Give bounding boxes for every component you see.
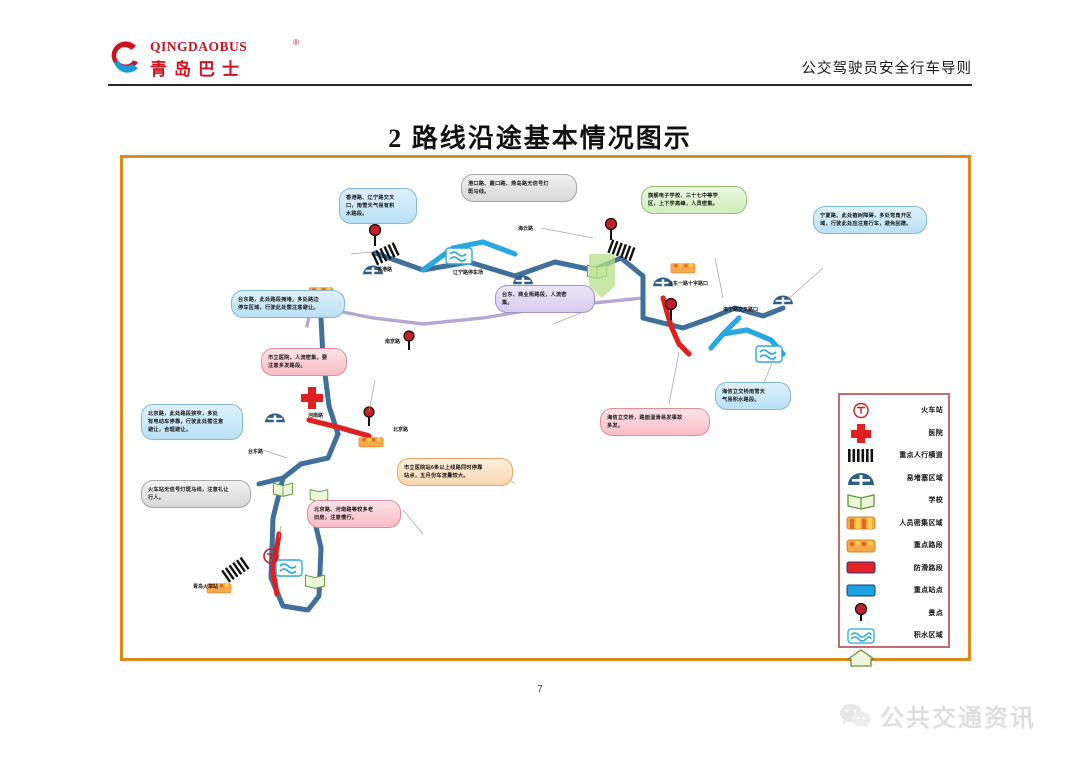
legend-item-crowd: 人员密集区域 bbox=[840, 512, 948, 535]
waterlogging-icon bbox=[840, 625, 882, 646]
legend-item-antislip: 防滑路段 bbox=[840, 557, 948, 580]
legend-label: 火车站 bbox=[882, 405, 948, 415]
legend-label: 重点路段 bbox=[882, 540, 948, 550]
callout-city-hospital-stop: 市立医院站6条以上线路同时停靠 站点，五月份车流量较大。 bbox=[397, 458, 513, 486]
callout-overpass-weather: 海信立交桥雨雪天 气易积水路段。 bbox=[715, 382, 791, 410]
callout-train-station: 火车站无信号灯斑马线，注意礼让 行人。 bbox=[141, 480, 251, 508]
node-label-nanjing-road: 南京路 bbox=[385, 338, 400, 345]
callout-taidong-area: 台东路，此处路段拥堵，多处路边 停车区域，行驶此处需注意避让。 bbox=[231, 290, 345, 318]
wechat-watermark: 公共交通资讯 bbox=[838, 698, 1036, 733]
train-station-icon bbox=[840, 400, 882, 421]
callout-city-hospital: 市立医院，人流密集，要 注意多发路段。 bbox=[261, 348, 347, 376]
brand-logo: QINGDAOBUS ® 青岛巴士 bbox=[108, 38, 338, 80]
callout-school-zone: 旗舰电子学校、三十七中等学 区，上下学高峰，人员密集。 bbox=[641, 186, 747, 214]
node-label-haiyun-road: 海云路 bbox=[518, 225, 533, 232]
legend-label: 景点 bbox=[882, 608, 948, 618]
legend-label: 重点站点 bbox=[882, 585, 948, 595]
crosswalk-icon bbox=[840, 445, 882, 466]
node-label-haining-junction: 海宁路交叉路口 bbox=[723, 306, 758, 313]
node-label-beijing-road: 北京路 bbox=[393, 426, 408, 433]
page-number: 7 bbox=[0, 684, 1080, 695]
legend-item-school: 学校 bbox=[840, 489, 948, 512]
congestion-icon bbox=[840, 467, 882, 488]
callout-hongkong-liaoning: 香港路、辽宁路交叉 口，雨雪天气易有积 水路段。 bbox=[339, 188, 417, 224]
legend-item-hospital: 医院 bbox=[840, 422, 948, 445]
crowd-icon bbox=[840, 512, 882, 533]
legend-label: 重点人行横道 bbox=[882, 450, 948, 460]
page-title: 2 路线沿途基本情况图示 bbox=[0, 118, 1080, 155]
legend-item-congestion: 易堵塞区域 bbox=[840, 467, 948, 490]
antislip-section-icon bbox=[840, 557, 882, 578]
brand-name-en: QINGDAOBUS bbox=[150, 39, 247, 55]
header-title: 公交驾驶员安全行车导则 bbox=[802, 57, 973, 78]
key-stop-icon bbox=[840, 580, 882, 601]
header-divider bbox=[108, 84, 972, 86]
wechat-icon bbox=[838, 702, 872, 730]
legend-item-waterlogging: 积水区域 bbox=[840, 624, 948, 647]
node-label-liaoning-parking: 辽宁路停车场 bbox=[453, 269, 483, 276]
house-icon bbox=[840, 647, 882, 668]
legend-item-house-area bbox=[840, 647, 948, 670]
node-label-henan-road: 河南路 bbox=[308, 412, 323, 419]
brand-name-cn: 青岛巴士 bbox=[150, 55, 246, 80]
node-label-qingdao-station: 青岛火车站 bbox=[193, 583, 218, 590]
callout-overpass-accident: 海信立交桥，路面湿滑易发事故 多发。 bbox=[600, 408, 710, 436]
legend-label: 积水区域 bbox=[882, 630, 948, 640]
legend-label: 学校 bbox=[882, 495, 948, 505]
legend-item-crosswalk: 重点人行横道 bbox=[840, 444, 948, 467]
node-label-taidong-road: 台东路 bbox=[248, 448, 263, 455]
qingdaobus-logo-icon bbox=[108, 40, 144, 76]
legend-label: 易堵塞区域 bbox=[882, 473, 948, 483]
callout-gangkou-road: 港口路、霞口路、燕岛路无信号灯 斑马线。 bbox=[461, 174, 577, 202]
route-diagram-frame: 香港路 辽宁路停车场 海云路 南京路 台东一路十字路口 海宁路交叉路口 河南路 … bbox=[120, 155, 971, 661]
page-header: QINGDAOBUS ® 青岛巴士 公交驾驶员安全行车导则 bbox=[0, 0, 1080, 92]
trademark-symbol: ® bbox=[293, 38, 299, 47]
legend-item-train-station: 火车站 bbox=[840, 399, 948, 422]
legend-label: 人员密集区域 bbox=[882, 518, 948, 528]
legend-item-key-section: 重点路段 bbox=[840, 534, 948, 557]
scenic-spot-icon bbox=[840, 602, 882, 623]
hospital-marker bbox=[301, 387, 323, 409]
hospital-cross-icon bbox=[840, 422, 882, 443]
node-label-taidong-crossroad: 台东一路十字路口 bbox=[668, 280, 708, 287]
key-section-icon bbox=[840, 535, 882, 556]
callout-sichuan-road: 北京路、河南路等较多老 旧房，注意慢行。 bbox=[307, 500, 401, 528]
legend-item-key-stop: 重点站点 bbox=[840, 579, 948, 602]
callout-beijing-road: 北京路，此处路段狭窄，多处 有电动车停靠，行驶此处需注意 避让，合理避让。 bbox=[141, 404, 243, 440]
legend-box: 火车站 医院 重点人行横道 bbox=[838, 393, 950, 648]
callout-ningxia-road: 宁夏路、此处植树障碍，多处弯角开区 域，行驶此处应注意行车，避免刮蹭。 bbox=[813, 206, 927, 234]
legend-item-scenic-spot: 景点 bbox=[840, 602, 948, 625]
school-book-icon bbox=[840, 490, 882, 511]
node-label-hongkong-road: 香港路 bbox=[377, 266, 392, 273]
legend-label: 医院 bbox=[882, 428, 948, 438]
legend-label: 防滑路段 bbox=[882, 563, 948, 573]
callout-taidong-commercial: 台东、商业街路段，人流密 集。 bbox=[495, 285, 595, 313]
watermark-text: 公共交通资讯 bbox=[880, 698, 1036, 733]
